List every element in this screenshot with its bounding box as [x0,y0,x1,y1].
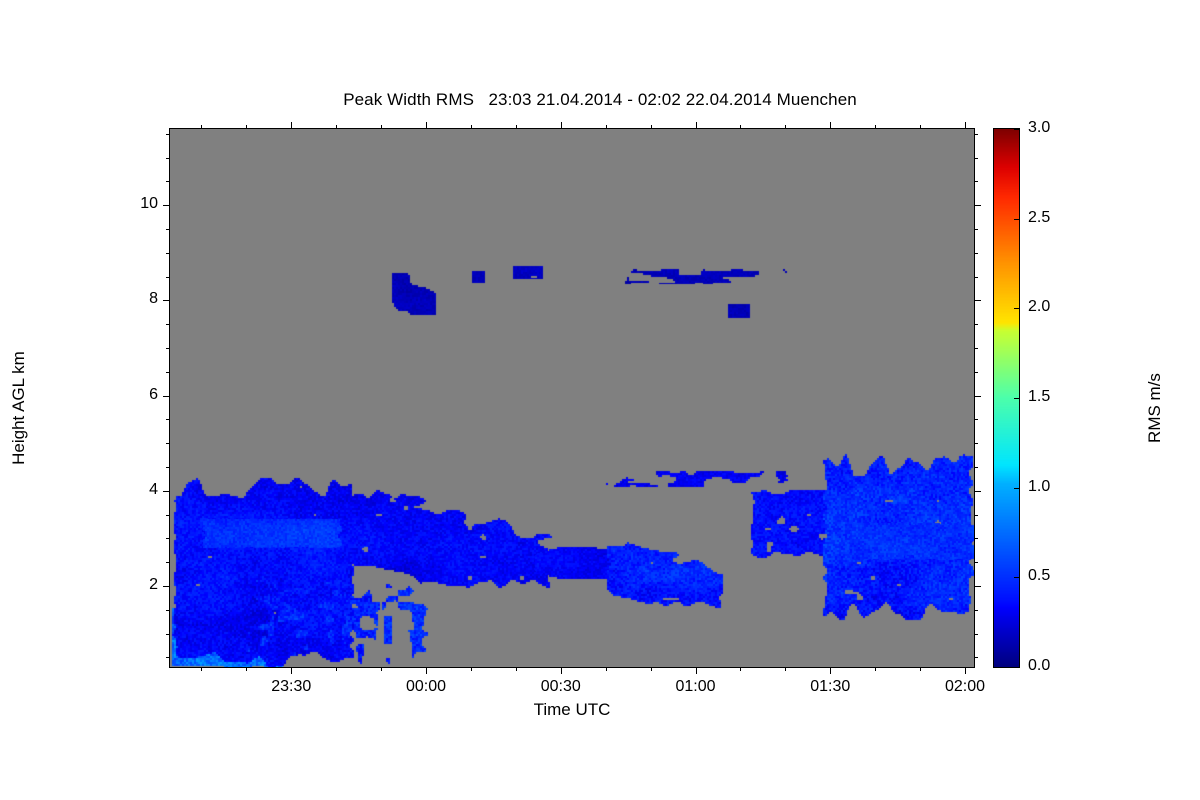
y-tick-minor [166,515,170,516]
colorbar-tick-label-2-5: 2.5 [1028,209,1050,227]
x-tick-minor-top [875,125,876,129]
x-tick-minor [246,667,247,671]
x-tick-minor-top [246,125,247,129]
x-tick-major-top-0 [291,122,292,129]
colorbar-tick-2 [1014,488,1019,489]
colorbar-tick-3 [1014,398,1019,399]
y-tick-minor-right [974,610,978,611]
y-tick-major-4 [163,205,170,206]
y-tick-minor [166,134,170,135]
colorbar-tick-5 [1014,219,1019,220]
y-tick-minor [166,372,170,373]
colorbar-tick-label-1-5: 1.5 [1028,388,1050,406]
x-tick-major-3 [696,667,697,674]
x-tick-label-23-30: 23:30 [231,678,351,696]
y-tick-minor-right [974,538,978,539]
colorbar-tick-label-2-0: 2.0 [1028,298,1050,316]
y-tick-minor [166,467,170,468]
colorbar-label: RMS m/s [1145,308,1165,508]
y-tick-major-2 [163,396,170,397]
y-tick-minor-right [974,515,978,516]
y-tick-minor-right [974,324,978,325]
y-tick-minor-right [974,229,978,230]
y-tick-minor-right [974,419,978,420]
x-tick-minor [651,667,652,671]
y-tick-minor [166,158,170,159]
x-tick-minor-top [651,125,652,129]
x-tick-label-01-00: 01:00 [636,678,756,696]
colorbar-tick-label-0-5: 0.5 [1028,567,1050,585]
y-tick-major-right-4 [974,205,981,206]
x-tick-minor [920,667,921,671]
x-tick-major-5 [965,667,966,674]
colorbar-tick-0 [1014,667,1019,668]
x-tick-label-02-00: 02:00 [905,678,1025,696]
x-tick-minor [471,667,472,671]
colorbar-tick-label-3-0: 3.0 [1028,119,1050,137]
y-tick-minor-right [974,277,978,278]
x-tick-major-top-2 [561,122,562,129]
y-tick-minor [166,277,170,278]
y-tick-minor [166,229,170,230]
y-tick-minor-right [974,634,978,635]
y-tick-label-2: 2 [78,576,158,594]
figure-canvas: Peak Width RMS 23:03 21.04.2014 - 02:02 … [0,0,1200,800]
colorbar-tick-label-0-0: 0.0 [1028,657,1050,675]
x-tick-label-01-30: 01:30 [770,678,890,696]
colorbar-tick-label-1-0: 1.0 [1028,478,1050,496]
x-tick-minor-top [785,125,786,129]
x-tick-minor [516,667,517,671]
x-tick-minor-top [381,125,382,129]
x-tick-minor [336,667,337,671]
y-tick-minor [166,610,170,611]
x-tick-minor-top [201,125,202,129]
y-tick-major-right-0 [974,586,981,587]
y-tick-minor-right [974,372,978,373]
y-tick-minor [166,253,170,254]
y-tick-minor [166,443,170,444]
page-title: Peak Width RMS 23:03 21.04.2014 - 02:02 … [0,90,1200,110]
y-tick-minor [166,348,170,349]
y-tick-minor-right [974,467,978,468]
y-axis-label: Height AGL km [9,308,29,508]
x-tick-minor [201,667,202,671]
y-tick-minor [166,538,170,539]
y-tick-label-10: 10 [78,195,158,213]
y-tick-minor-right [974,181,978,182]
y-tick-minor-right [974,657,978,658]
x-tick-minor-top [740,125,741,129]
x-tick-minor-top [336,125,337,129]
colorbar-tick-6 [1014,129,1019,130]
x-tick-minor-top [516,125,517,129]
y-tick-minor-right [974,158,978,159]
x-tick-minor-top [471,125,472,129]
y-tick-minor-right [974,562,978,563]
x-tick-major-top-1 [426,122,427,129]
x-tick-major-top-4 [830,122,831,129]
x-tick-minor-top [606,125,607,129]
y-tick-major-right-3 [974,300,981,301]
y-tick-minor-right [974,134,978,135]
x-tick-minor [606,667,607,671]
y-tick-minor [166,419,170,420]
x-tick-major-1 [426,667,427,674]
x-tick-major-0 [291,667,292,674]
plot-area [169,128,975,668]
x-tick-minor [785,667,786,671]
y-tick-minor-right [974,443,978,444]
y-tick-label-6: 6 [78,386,158,404]
y-tick-minor [166,634,170,635]
y-tick-minor [166,562,170,563]
x-tick-minor-top [920,125,921,129]
x-tick-major-2 [561,667,562,674]
y-tick-minor-right [974,253,978,254]
y-tick-minor-right [974,348,978,349]
y-tick-minor [166,324,170,325]
x-tick-minor [875,667,876,671]
x-tick-major-4 [830,667,831,674]
y-tick-major-right-1 [974,491,981,492]
x-tick-major-top-3 [696,122,697,129]
colorbar-tick-4 [1014,308,1019,309]
y-tick-major-0 [163,586,170,587]
x-axis-label: Time UTC [169,700,975,720]
y-tick-major-right-2 [974,396,981,397]
y-tick-label-4: 4 [78,481,158,499]
y-tick-major-3 [163,300,170,301]
y-tick-minor [166,657,170,658]
colorbar-tick-1 [1014,577,1019,578]
y-tick-label-8: 8 [78,290,158,308]
x-tick-major-top-5 [965,122,966,129]
heatmap-image [170,129,974,667]
y-tick-major-1 [163,491,170,492]
x-tick-label-00-30: 00:30 [501,678,621,696]
x-tick-minor [381,667,382,671]
x-tick-minor [740,667,741,671]
y-tick-minor [166,181,170,182]
x-tick-label-00-00: 00:00 [366,678,486,696]
